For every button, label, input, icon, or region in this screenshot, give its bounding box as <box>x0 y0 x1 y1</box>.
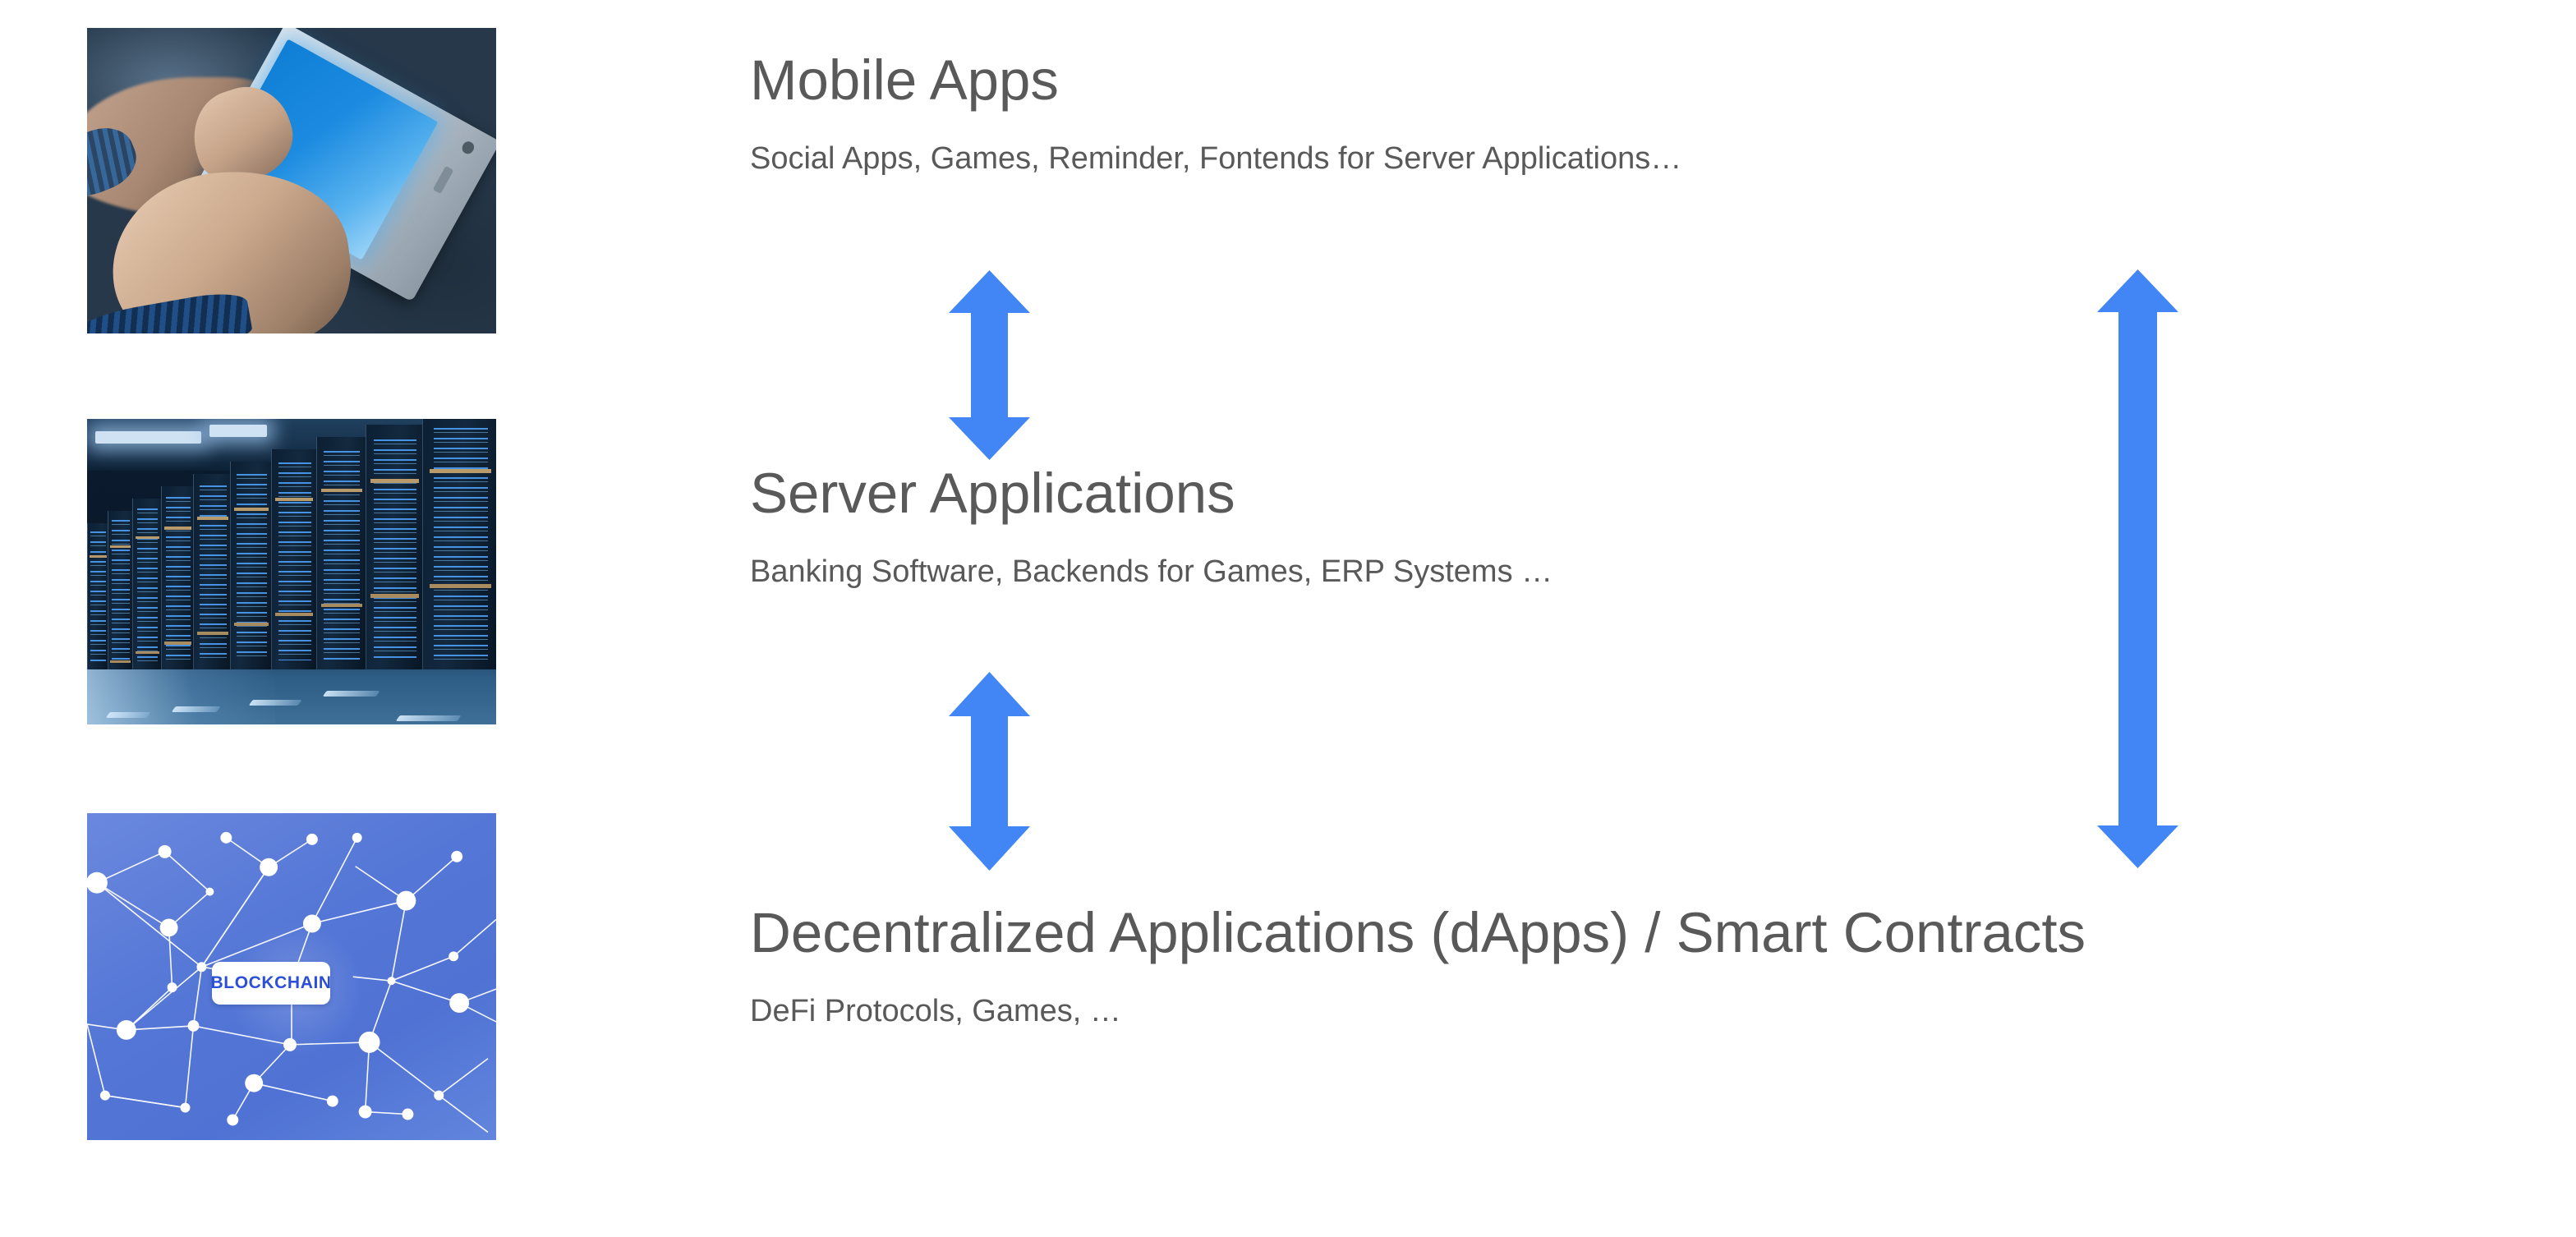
blockchain-badge-label: BLOCKCHAIN <box>211 973 332 993</box>
server-rack <box>271 449 318 669</box>
heading-server-applications: Server Applications <box>750 464 1552 523</box>
photo-hand-holding-smartphone <box>87 28 496 333</box>
image-server-applications <box>87 419 496 724</box>
ceiling-lamp <box>95 431 201 444</box>
illustration-blockchain-network: BLOCKCHAIN <box>87 813 496 1140</box>
floor-light-streak <box>322 691 379 697</box>
image-mobile-apps <box>87 28 496 333</box>
server-rack <box>366 425 425 669</box>
server-rack <box>161 486 195 669</box>
floor-light-streak <box>105 712 150 718</box>
blockchain-badge: BLOCKCHAIN <box>212 962 330 1005</box>
examples-decentralized-applications: DeFi Protocols, Games, … <box>750 995 2086 1029</box>
examples-mobile-apps: Social Apps, Games, Reminder, Fontends f… <box>750 142 1681 177</box>
floor-light-streak <box>396 715 462 721</box>
server-rack <box>230 462 273 669</box>
smartphone-camera <box>461 140 476 156</box>
server-rack <box>108 511 134 669</box>
double-arrow-vertical-icon-mobile-chain <box>2097 269 2178 868</box>
server-rack <box>132 499 163 669</box>
server-rack <box>193 474 232 669</box>
floor-light-streak <box>249 700 302 706</box>
double-arrow-vertical-icon-mobile-server <box>949 270 1030 460</box>
text-block-mobile-apps: Mobile Apps Social Apps, Games, Reminder… <box>750 51 1681 177</box>
slide-canvas: BLOCKCHAIN Mobile Apps Social Apps, Game… <box>0 0 2576 1237</box>
server-rack <box>422 419 496 669</box>
server-rack <box>316 437 367 669</box>
heading-mobile-apps: Mobile Apps <box>750 51 1681 110</box>
smartphone-speaker <box>433 166 453 194</box>
text-block-server-applications: Server Applications Banking Software, Ba… <box>750 464 1552 590</box>
heading-decentralized-applications: Decentralized Applications (dApps) / Sma… <box>750 904 2086 963</box>
photo-data-center-server-racks <box>87 419 496 724</box>
ceiling-lamp <box>209 425 267 437</box>
examples-server-applications: Banking Software, Backends for Games, ER… <box>750 555 1552 590</box>
floor-light-streak <box>171 706 220 712</box>
image-decentralized-applications: BLOCKCHAIN <box>87 813 496 1140</box>
server-rack <box>87 523 109 670</box>
double-arrow-vertical-icon-server-chain <box>949 672 1030 871</box>
text-block-decentralized-applications: Decentralized Applications (dApps) / Sma… <box>750 904 2086 1029</box>
